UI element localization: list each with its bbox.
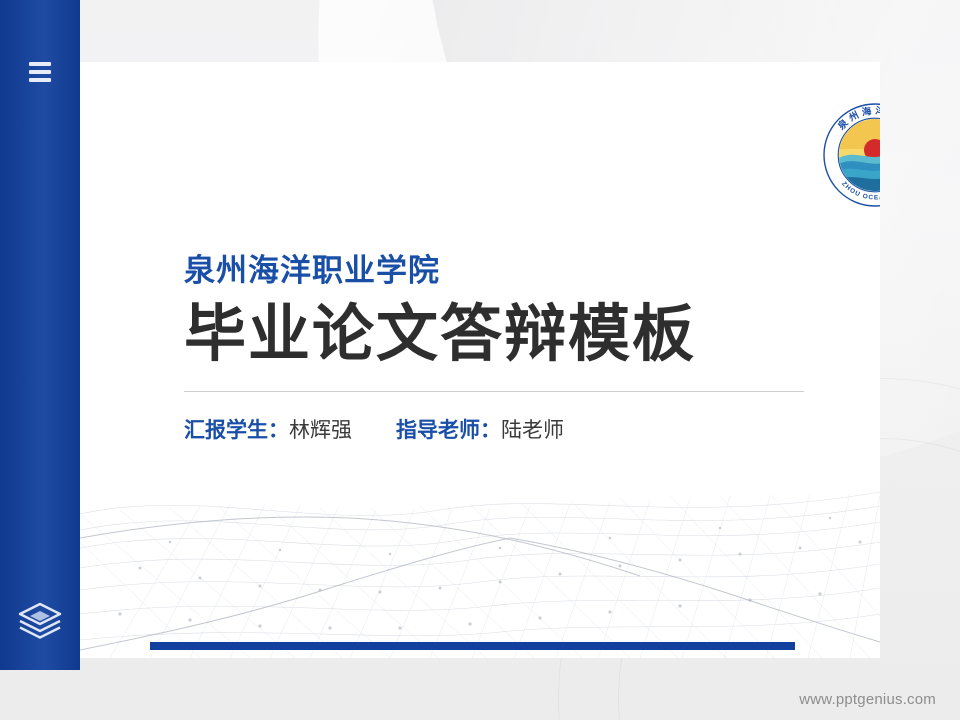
title-divider <box>184 391 804 392</box>
content-card: 泉州海洋学院 QUANZHOU OCEAN INSTITUTE 泉州海洋职业学院… <box>80 62 880 658</box>
page-title: 毕业论文答辩模板 <box>184 302 844 369</box>
quanzhou-ocean-institute-seal-icon: 泉州海洋学院 QUANZHOU OCEAN INSTITUTE <box>820 100 880 210</box>
slide-canvas: 泉州海洋学院 QUANZHOU OCEAN INSTITUTE 泉州海洋职业学院… <box>0 0 960 720</box>
stacked-layers-icon <box>17 601 63 644</box>
rail-gradient-overlay <box>0 0 80 670</box>
title-block: 泉州海洋职业学院 毕业论文答辩模板 汇报学生：林辉强指导老师：陆老师 <box>184 254 844 444</box>
layers-button[interactable] <box>0 598 80 646</box>
student-name: 林辉强 <box>289 419 352 442</box>
hamburger-menu-icon <box>29 62 51 82</box>
menu-button[interactable] <box>0 56 80 88</box>
advisor-label: 指导老师： <box>396 419 501 442</box>
credits-line: 汇报学生：林辉强指导老师：陆老师 <box>184 414 844 444</box>
bottom-accent-bar <box>150 642 795 650</box>
footer-url: www.pptgenius.com <box>799 691 936 708</box>
advisor-name: 陆老师 <box>501 419 564 442</box>
wave-mesh-decoration <box>80 418 880 658</box>
student-label: 汇报学生： <box>184 419 289 442</box>
left-blue-rail <box>0 0 80 670</box>
school-name: 泉州海洋职业学院 <box>184 254 844 288</box>
